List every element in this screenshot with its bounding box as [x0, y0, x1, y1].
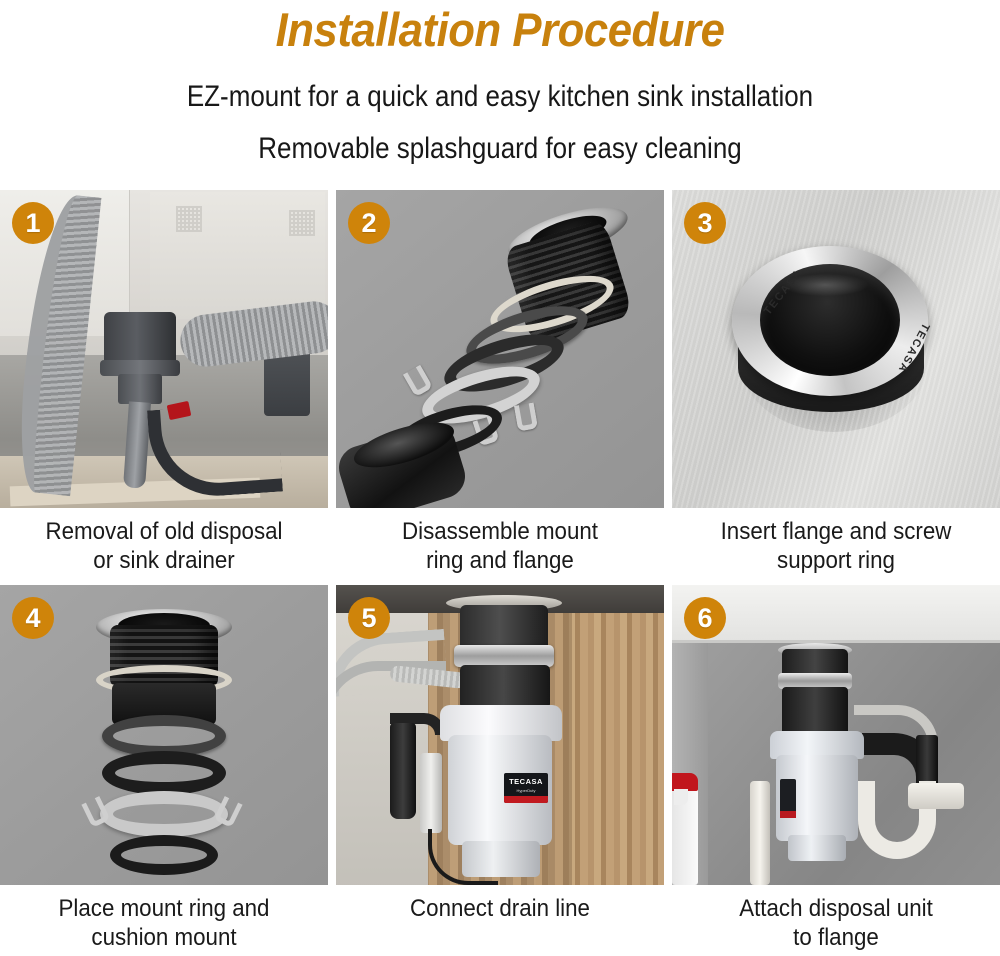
installation-procedure-page: Installation Procedure EZ-mount for a qu… — [0, 0, 1000, 956]
step-photo-2: 2 — [336, 190, 664, 508]
subtitle-line-2: Removable splashguard for easy cleaning — [60, 132, 940, 166]
vent-grille-left — [176, 206, 202, 232]
disposal-upper-housing — [782, 687, 848, 735]
step-caption-6: Attach disposal unit to flange — [683, 885, 988, 952]
step-caption-2-line-1: Disassemble mount — [347, 517, 652, 546]
p-trap-outlet — [908, 783, 964, 809]
steps-row-top: 1 Removal of old disposal or sink draine… — [0, 190, 1000, 585]
step-photo-3: TECASA TECASA 3 — [672, 190, 1000, 508]
step-badge-1: 1 — [12, 202, 54, 244]
disposal-motor-base — [788, 835, 846, 861]
step-badge-6: 6 — [684, 597, 726, 639]
step-badge-4: 4 — [12, 597, 54, 639]
disposal-mount-clamp — [454, 645, 554, 667]
white-drain-pipe — [420, 753, 442, 833]
step-caption-4-line-2: cushion mount — [11, 923, 316, 952]
step-card-5: TECASA HyperDuty 5 Connect drain line — [336, 585, 664, 956]
step-photo-6: 6 — [672, 585, 1000, 885]
step-caption-1-line-2: or sink drainer — [11, 546, 316, 575]
step-caption-6-line-2: to flange — [683, 923, 988, 952]
disposal-brand-name: TECASA — [504, 777, 548, 786]
step-caption-5-line-1: Connect drain line — [347, 894, 652, 923]
step-card-1: 1 Removal of old disposal or sink draine… — [0, 190, 328, 585]
step-caption-2: Disassemble mount ring and flange — [347, 508, 652, 575]
step-caption-3: Insert flange and screw support ring — [683, 508, 988, 575]
step-photo-4: 4 — [0, 585, 328, 885]
subtitle-line-1: EZ-mount for a quick and easy kitchen si… — [60, 80, 940, 114]
steps-grid: 1 Removal of old disposal or sink draine… — [0, 190, 1000, 956]
step-badge-5: 5 — [348, 597, 390, 639]
cushion-mount — [110, 835, 218, 875]
disposal-brand-label: TECASA HyperDuty — [504, 773, 548, 803]
mount-tab-a — [403, 365, 433, 398]
disposal-brand-subtitle: HyperDuty — [504, 788, 548, 793]
step-photo-1: 1 — [0, 190, 328, 508]
mount-tab-b — [514, 402, 538, 431]
mount-ring — [100, 791, 228, 837]
mount-ring-upper — [102, 751, 226, 795]
step-card-3: TECASA TECASA 3 Insert flange and screw … — [672, 190, 1000, 585]
black-elbow-pipe — [390, 723, 416, 819]
step-card-6: 6 Attach disposal unit to flange — [672, 585, 1000, 956]
disposal-brand-label — [780, 779, 796, 815]
step-badge-2: 2 — [348, 202, 390, 244]
step-card-2: 2 Disassemble mount ring and flange — [336, 190, 664, 585]
step-badge-3: 3 — [684, 202, 726, 244]
step-photo-5: TECASA HyperDuty 5 — [336, 585, 664, 885]
steps-row-bottom: 4 Place mount ring and cushion mount — [0, 585, 1000, 956]
vent-grille-right — [289, 210, 315, 236]
old-disposal-neck — [118, 374, 162, 404]
step-caption-4-line-1: Place mount ring and — [11, 894, 316, 923]
step-caption-2-line-2: ring and flange — [347, 546, 652, 575]
disposal-label-red-strip — [780, 811, 796, 818]
step-caption-6-line-1: Attach disposal unit — [683, 894, 988, 923]
disposal-upper-housing — [460, 665, 550, 709]
page-title: Installation Procedure — [35, 2, 965, 58]
step-caption-3-line-2: support ring — [683, 546, 988, 575]
step-caption-3-line-1: Insert flange and screw — [683, 517, 988, 546]
step-caption-1-line-1: Removal of old disposal — [11, 517, 316, 546]
step-caption-5: Connect drain line — [347, 885, 652, 923]
step-card-4: 4 Place mount ring and cushion mount — [0, 585, 328, 956]
header: Installation Procedure EZ-mount for a qu… — [0, 0, 1000, 166]
disposal-label-red-strip — [504, 796, 548, 803]
step-caption-1: Removal of old disposal or sink drainer — [11, 508, 316, 575]
spray-bottle-trigger — [674, 789, 688, 805]
white-drain-pipe-left — [750, 781, 770, 885]
step-caption-4: Place mount ring and cushion mount — [11, 885, 316, 952]
